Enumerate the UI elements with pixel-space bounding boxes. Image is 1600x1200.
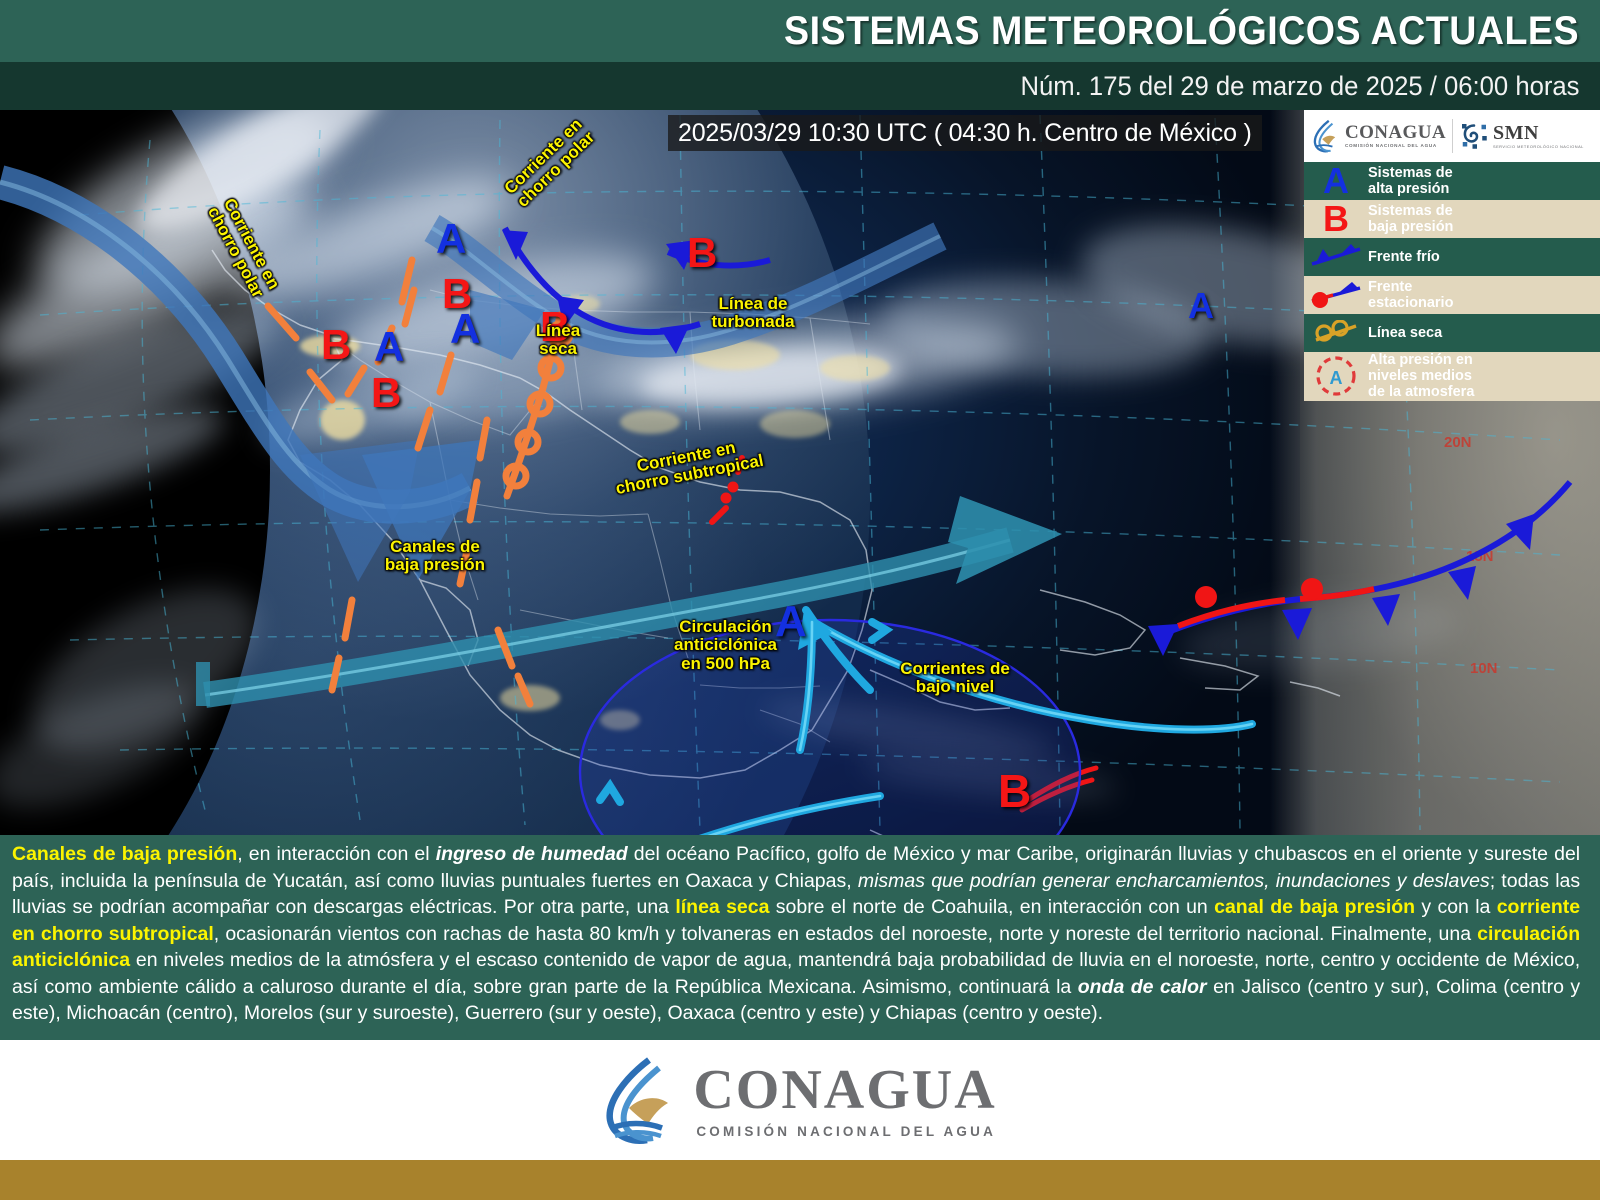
annotation-low-level-currents: Corrientes de bajo nivel bbox=[880, 660, 1030, 697]
letter-A-blue-icon: A bbox=[1304, 163, 1368, 199]
smn-spiral-icon bbox=[1459, 121, 1489, 151]
legend-label: Sistemas de baja presión bbox=[1368, 203, 1459, 235]
high-pressure-marker: A bbox=[374, 326, 404, 368]
conagua-footer-wordmark: CONAGUA COMISIÓN NACIONAL DEL AGUA bbox=[693, 1062, 996, 1139]
legend-label: Línea seca bbox=[1368, 325, 1448, 341]
high-pressure-marker: A bbox=[436, 218, 466, 260]
legend-item-low-pressure: B Sistemas de baja presión bbox=[1304, 200, 1600, 238]
satellite-timestamp: 2025/03/29 10:30 UTC ( 04:30 h. Centro d… bbox=[668, 115, 1262, 151]
low-pressure-marker: B bbox=[321, 324, 351, 366]
dry-line-icon bbox=[1304, 320, 1368, 346]
annotation-squall-line: Línea de turbonada bbox=[693, 295, 813, 332]
discussion-segment: línea seca bbox=[675, 896, 769, 918]
svg-text:A: A bbox=[1330, 368, 1343, 388]
annotation-dry-line: Línea seca bbox=[518, 322, 598, 359]
discussion-segment: , en interacción con el bbox=[237, 843, 435, 865]
logo-strip: CONAGUA COMISIÓN NACIONAL DEL AGUA bbox=[1304, 110, 1600, 162]
legend-item-stationary-front: Frente estacionario bbox=[1304, 276, 1600, 314]
page-title: SISTEMAS METEOROLÓGICOS ACTUALES bbox=[784, 9, 1600, 54]
conagua-logo: CONAGUA COMISIÓN NACIONAL DEL AGUA bbox=[1312, 119, 1446, 153]
stationary-front-atlantic bbox=[1148, 482, 1570, 656]
legend-item-mid-level-high: A Alta presión en niveles medios de la a… bbox=[1304, 352, 1600, 401]
legend-label: Frente estacionario bbox=[1368, 279, 1459, 311]
header-title-bar: SISTEMAS METEOROLÓGICOS ACTUALES bbox=[0, 0, 1600, 62]
high-pressure-marker: A bbox=[1188, 288, 1214, 324]
mid-level-high-icon: A bbox=[1304, 354, 1368, 398]
low-pressure-marker: B bbox=[998, 768, 1031, 814]
discussion-segment: Canales de baja presión bbox=[12, 843, 237, 865]
discussion-segment: ingreso de humedad bbox=[436, 843, 628, 865]
header-subtitle-bar: Núm. 175 del 29 de marzo de 2025 / 06:00… bbox=[0, 62, 1600, 110]
annotation-low-pressure-troughs: Canales de baja presión bbox=[365, 538, 505, 575]
footer-gold-bar bbox=[0, 1160, 1600, 1200]
conagua-drop-icon bbox=[1312, 119, 1340, 153]
conagua-subtitle: COMISIÓN NACIONAL DEL AGUA bbox=[696, 1125, 996, 1139]
discussion-segment: y con la bbox=[1415, 896, 1497, 918]
discussion-segment: , ocasionarán vientos con rachas de hast… bbox=[214, 923, 1477, 945]
low-pressure-marker: B bbox=[687, 232, 717, 274]
satellite-map[interactable]: 35N 30N 25N 20N 15N 10N bbox=[0, 110, 1600, 835]
annotation-anticyclone: Circulación anticiclónica en 500 hPa bbox=[648, 618, 803, 673]
footer: CONAGUA COMISIÓN NACIONAL DEL AGUA bbox=[0, 1040, 1600, 1160]
cold-front-icon bbox=[1304, 244, 1368, 270]
stationary-front-icon bbox=[1304, 282, 1368, 308]
smn-word: SMN bbox=[1493, 123, 1584, 143]
low-pressure-marker: B bbox=[371, 372, 401, 414]
letter-B-red-icon: B bbox=[1304, 201, 1368, 237]
discussion-segment: canal de baja presión bbox=[1214, 896, 1415, 918]
legend-item-high-pressure: A Sistemas de alta presión bbox=[1304, 162, 1600, 200]
conagua-word: CONAGUA bbox=[1345, 123, 1446, 142]
smn-subtitle: SERVICIO METEOROLÓGICO NACIONAL bbox=[1493, 145, 1584, 149]
high-pressure-marker: A bbox=[450, 308, 480, 350]
legend-label: Frente frío bbox=[1368, 249, 1446, 265]
conagua-subtitle: COMISIÓN NACIONAL DEL AGUA bbox=[1345, 144, 1446, 149]
conagua-drop-icon bbox=[603, 1056, 677, 1144]
cold-front-northeast bbox=[666, 240, 770, 270]
conagua-wordmark: CONAGUA COMISIÓN NACIONAL DEL AGUA bbox=[1345, 123, 1446, 149]
legend-label: Sistemas de alta presión bbox=[1368, 165, 1459, 197]
logo-divider bbox=[1452, 119, 1453, 153]
smn-wordmark: SMN SERVICIO METEOROLÓGICO NACIONAL bbox=[1493, 123, 1584, 149]
smn-logo: SMN SERVICIO METEOROLÓGICO NACIONAL bbox=[1459, 121, 1584, 151]
discussion-segment: sobre el norte de Coahuila, en interacci… bbox=[769, 896, 1214, 918]
legend-label: Alta presión en niveles medios de la atm… bbox=[1368, 352, 1480, 401]
conagua-word: CONAGUA bbox=[693, 1062, 996, 1118]
conagua-footer-logo: CONAGUA COMISIÓN NACIONAL DEL AGUA bbox=[603, 1056, 996, 1144]
legend-item-dry-line: Línea seca bbox=[1304, 314, 1600, 352]
map-legend: A Sistemas de alta presión B Sistemas de… bbox=[1304, 162, 1600, 401]
discussion-segment: onda de calor bbox=[1078, 976, 1207, 998]
discussion-panel: Canales de baja presión, en interacción … bbox=[0, 835, 1600, 1040]
bulletin-number-date: Núm. 175 del 29 de marzo de 2025 / 06:00… bbox=[1020, 71, 1600, 102]
discussion-text: Canales de baja presión, en interacción … bbox=[12, 841, 1580, 1027]
discussion-segment: mismas que podrían generar encharcamient… bbox=[858, 870, 1490, 892]
weather-bulletin-page: SISTEMAS METEOROLÓGICOS ACTUALES Núm. 17… bbox=[0, 0, 1600, 1200]
legend-item-cold-front: Frente frío bbox=[1304, 238, 1600, 276]
